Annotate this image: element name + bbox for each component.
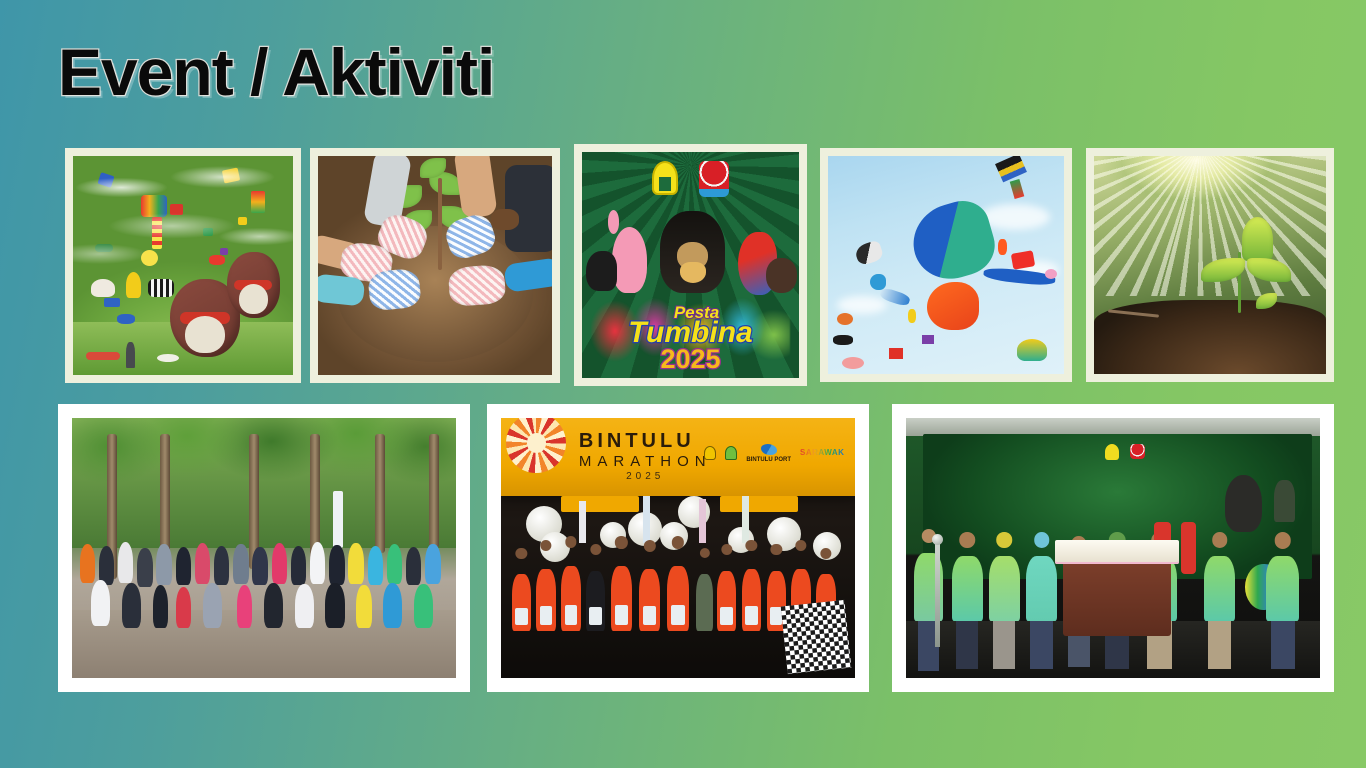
gallery-item-bintulu-marathon[interactable]: BINTULU MARATHON 2025 BINTULU PORT SARAW…: [487, 404, 869, 692]
ceremony-table: [1063, 558, 1171, 636]
squirrel-kite: [227, 252, 280, 318]
photo-bintulu-marathon: BINTULU MARATHON 2025 BINTULU PORT SARAW…: [501, 418, 855, 678]
hornbill-logo-icon: [704, 446, 716, 462]
official-person: [1266, 556, 1299, 621]
marathon-line-3: 2025: [579, 472, 712, 482]
poster-line-3: 2025: [582, 346, 799, 373]
gallery-item-cake-cutting-ceremony[interactable]: [892, 404, 1334, 692]
poster-title: Pesta Tumbina 2025: [582, 304, 799, 373]
dinosaur-kite: [927, 282, 979, 330]
photo-park-group-photo: [72, 418, 456, 678]
photo-pesta-tumbina-poster: Pesta Tumbina 2025: [582, 152, 799, 378]
marathon-line-2: MARATHON: [579, 454, 712, 469]
gallery-item-seedling-sunlight[interactable]: [1086, 148, 1334, 382]
gallery-item-kites-in-sky[interactable]: [820, 148, 1072, 382]
stanchion-post: [935, 543, 940, 647]
gallery-item-pesta-tumbina-poster[interactable]: Pesta Tumbina 2025: [574, 144, 807, 386]
gallery-item-kite-festival-field[interactable]: [65, 148, 301, 383]
poster-line-1: Pesta: [588, 304, 799, 321]
council-logo-icon: [725, 446, 737, 462]
squirrel-kite: [170, 279, 240, 358]
photo-kites-in-sky: [828, 156, 1064, 374]
official-person: [989, 556, 1020, 621]
photo-kite-festival-field: [73, 156, 293, 375]
photo-seedling-sunlight: [1094, 156, 1326, 374]
sponsor-sarawak: SARAWAK: [800, 449, 844, 458]
marathon-sponsor-row: BINTULU PORT SARAWAK: [704, 444, 844, 464]
event-gallery: Pesta Tumbina 2025: [0, 0, 1366, 768]
official-person: [952, 556, 983, 621]
sponsor-bintulu-port: BINTULU PORT: [746, 444, 791, 464]
gallery-item-park-group-photo[interactable]: [58, 404, 470, 692]
council-seal-icon: [699, 161, 729, 193]
photo-cake-cutting-ceremony: [906, 418, 1320, 678]
official-person: [1204, 556, 1235, 621]
ceremony-cake: [1055, 540, 1179, 563]
official-person: [1026, 556, 1057, 621]
checkered-flag: [781, 599, 851, 673]
sarawak-crest-icon: [652, 161, 678, 195]
photo-tree-planting-hands: [318, 156, 552, 375]
poster-logo-row: [582, 161, 799, 195]
gallery-item-tree-planting-hands[interactable]: [310, 148, 560, 383]
marathon-banner-title: BINTULU MARATHON 2025: [579, 431, 712, 482]
sponsor-label: BINTULU PORT: [746, 457, 791, 463]
marathon-line-1: BINTULU: [579, 431, 712, 451]
